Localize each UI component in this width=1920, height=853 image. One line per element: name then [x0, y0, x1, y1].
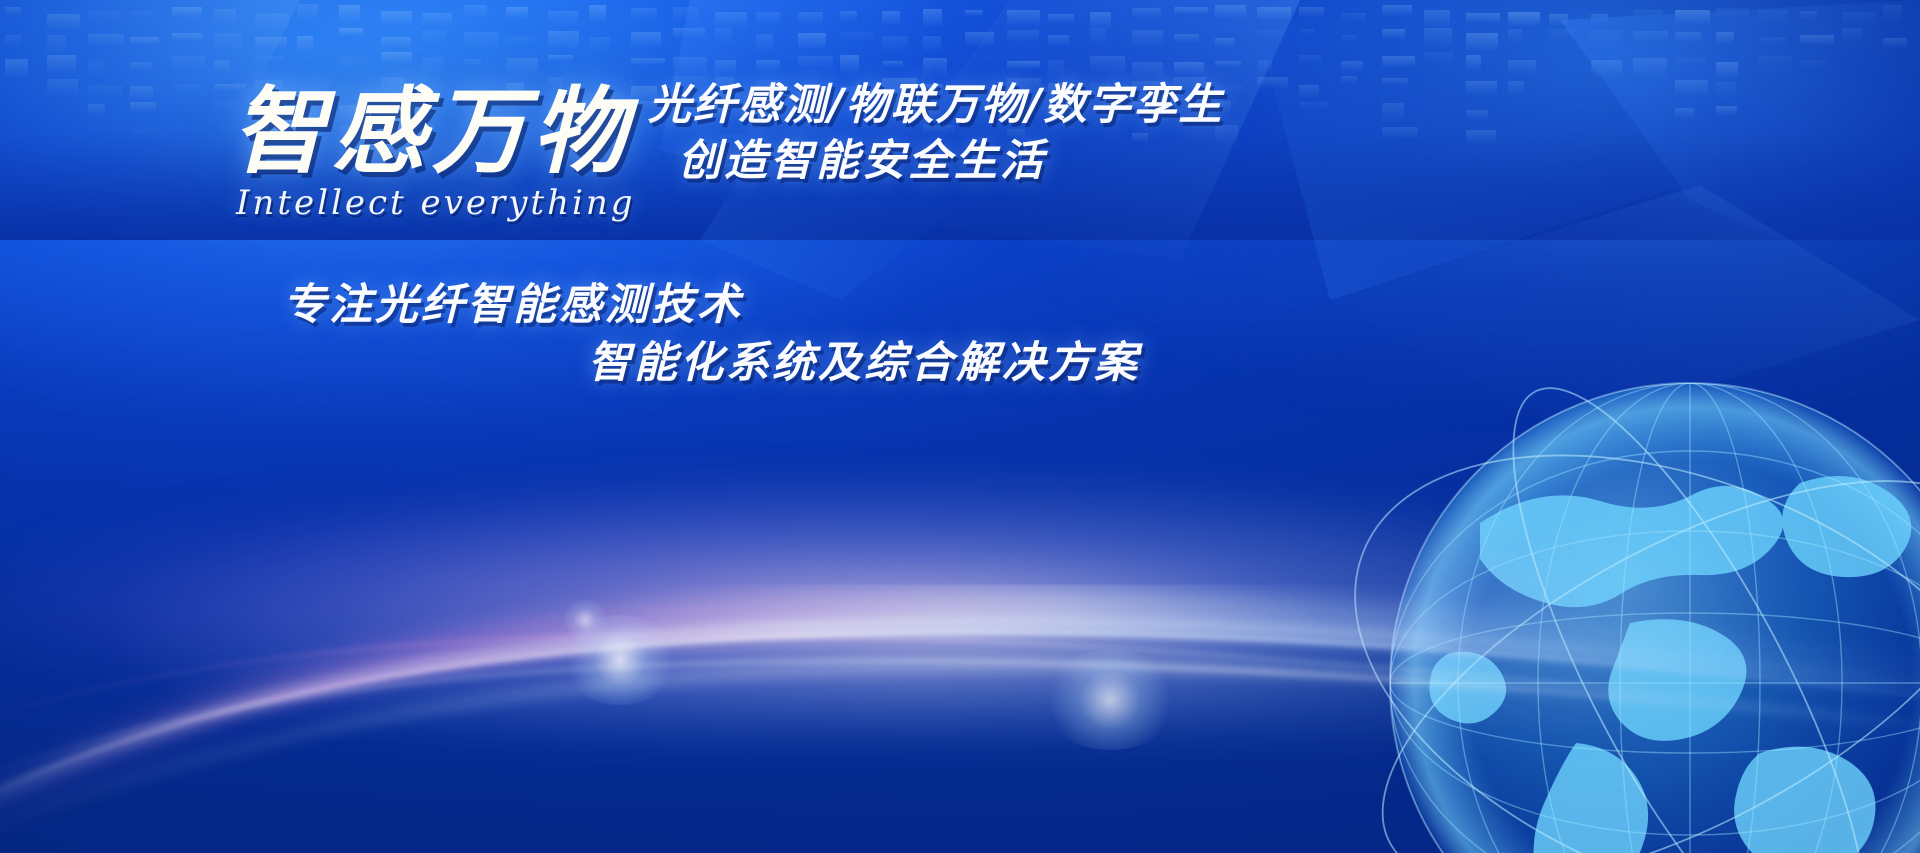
headline-english: Intellect everything	[236, 183, 636, 223]
slogan-line-1: 光纤感测/物联万物/数字孪生	[648, 84, 1223, 127]
light-spark-c	[560, 600, 610, 640]
focus-line-2: 智能化系统及综合解决方案	[588, 342, 1140, 385]
focus-line-1: 专注光纤智能感测技术	[283, 284, 743, 327]
light-sweep-arcs	[0, 433, 1920, 853]
slogan-line-2: 创造智能安全生活	[678, 140, 1046, 183]
banner-root: 智感万物 Intellect everything 光纤感测/物联万物/数字孪生…	[0, 0, 1920, 853]
light-spark-b	[1040, 650, 1180, 750]
headline-chinese: 智感万物	[232, 86, 632, 180]
